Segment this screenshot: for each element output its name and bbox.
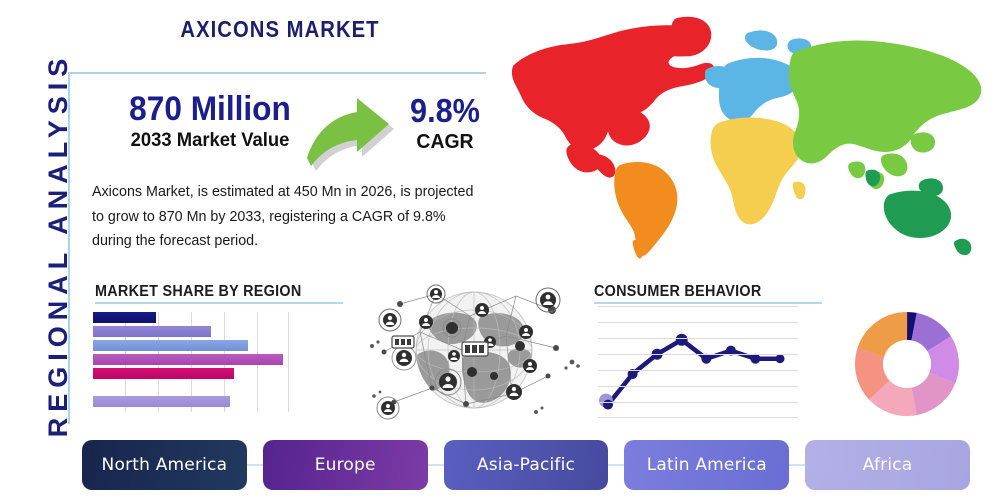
pill-connector xyxy=(428,464,444,466)
market-value: 870 Million xyxy=(103,92,317,128)
global-network-icon xyxy=(366,276,582,424)
market-share-bar-chart xyxy=(93,312,289,412)
bar-row xyxy=(93,326,211,337)
consumer-behavior-line-chart xyxy=(598,306,798,418)
region-pill-africa[interactable]: Africa xyxy=(805,440,970,490)
bar-fill xyxy=(93,340,248,351)
region-pill-latin-america[interactable]: Latin America xyxy=(624,440,789,490)
bar-fill xyxy=(93,354,283,365)
donut-svg xyxy=(855,312,959,416)
consumer-behavior-rule xyxy=(594,302,822,304)
pill-connector xyxy=(789,464,805,466)
region-pill-label: Africa xyxy=(863,455,913,475)
world-map-svg xyxy=(495,4,995,264)
pill-connector xyxy=(608,464,624,466)
bar-row xyxy=(93,382,260,393)
region-pill-label: Latin America xyxy=(647,455,767,475)
market-share-rule xyxy=(95,302,343,304)
bar-fill xyxy=(93,326,211,337)
region-pill-label: Europe xyxy=(315,455,376,475)
bar-row xyxy=(93,340,248,351)
region-pill-label: North America xyxy=(102,455,228,475)
consumer-behavior-heading: CONSUMER BEHAVIOR xyxy=(594,283,762,301)
infographic-canvas: REGIONAL ANALYSIS AXICONS MARKET xyxy=(0,0,1000,500)
bar-fill xyxy=(93,368,234,379)
pill-connector xyxy=(247,464,263,466)
market-share-heading: MARKET SHARE BY REGION xyxy=(95,283,301,301)
market-value-block: 870 Million 2033 Market Value xyxy=(95,92,325,152)
page-title: AXICONS MARKET xyxy=(166,16,395,43)
region-pill-europe[interactable]: Europe xyxy=(263,440,428,490)
region-pill-asia-pacific[interactable]: Asia-Pacific xyxy=(444,440,609,490)
global-network-svg xyxy=(366,276,582,424)
region-pill-label: Asia-Pacific xyxy=(477,455,575,475)
bar-fill xyxy=(93,382,260,393)
bar-row xyxy=(93,312,156,323)
bar-row xyxy=(93,354,283,365)
bar-row xyxy=(93,396,230,407)
bar-fill xyxy=(93,312,156,323)
cagr-block: 9.8% CAGR xyxy=(390,94,500,154)
regional-split-donut-chart xyxy=(855,312,959,416)
market-value-caption: 2033 Market Value xyxy=(98,130,321,152)
cagr-caption: CAGR xyxy=(392,131,499,154)
line-chart-gridlines xyxy=(598,306,798,418)
market-description: Axicons Market, is estimated at 450 Mn i… xyxy=(92,180,482,254)
cagr-value: 9.8% xyxy=(394,94,496,129)
region-pill-bar: North America Europe Asia-Pacific Latin … xyxy=(82,440,970,490)
region-pill-north-america[interactable]: North America xyxy=(82,440,247,490)
kpi-row: 870 Million 2033 Market Value 9.8% CAGR xyxy=(80,92,500,170)
bar-row xyxy=(93,368,234,379)
world-map-icon xyxy=(495,4,995,264)
bar-fill xyxy=(93,396,230,407)
